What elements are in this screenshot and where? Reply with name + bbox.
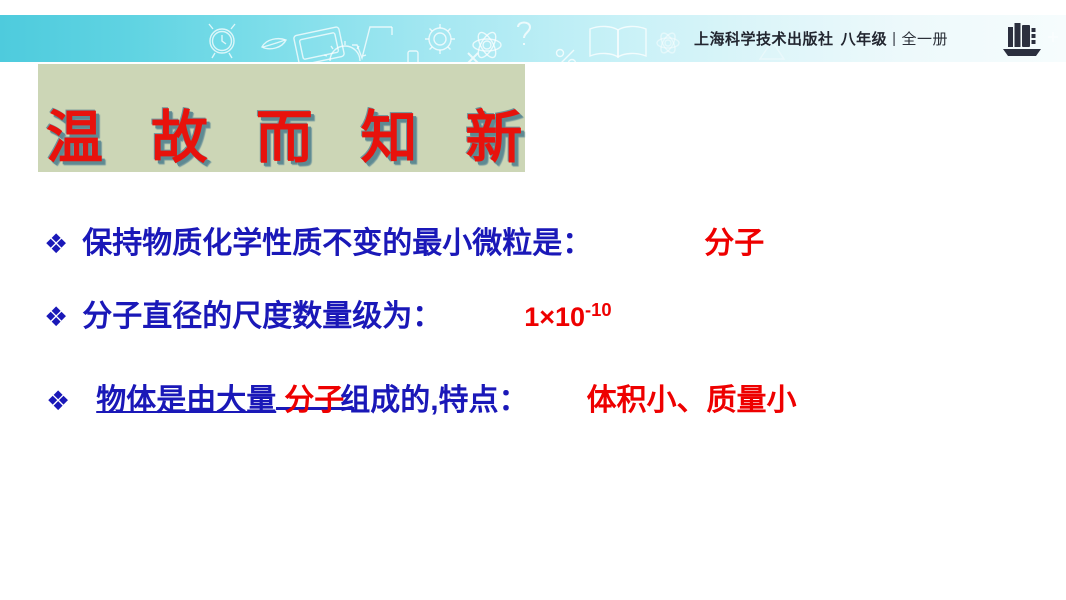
plus-icon — [1048, 32, 1058, 42]
grade-label: 八年级 — [841, 28, 888, 49]
title-banner: 温 故 而 知 新 — [38, 64, 525, 172]
header-title: 上海科学技术出版社 八年级 | 全一册 — [694, 15, 948, 62]
blank-answer-3: 分子 — [284, 375, 344, 419]
books-shelf-icon — [1000, 19, 1044, 59]
multiply-icon — [468, 53, 478, 62]
question-text-3b: 组成的,特点： — [340, 375, 528, 419]
question-text-1: 保持物质化学性质不变的最小微粒是： — [82, 218, 592, 262]
answer-text-2: 1×10-10 — [524, 302, 611, 333]
eraser-icon — [408, 51, 418, 62]
atom-icon — [657, 31, 679, 55]
percent-icon — [557, 50, 576, 63]
bullet-icon: ❖ — [44, 304, 68, 331]
review-line-2: ❖ 分子直径的尺度数量级为： 1×10-10 — [44, 291, 612, 335]
alarm-clock-icon — [209, 24, 235, 58]
question-text-2: 分子直径的尺度数量级为： — [82, 291, 442, 335]
title-separator: | — [892, 30, 896, 47]
bullet-icon: ❖ — [44, 231, 68, 258]
publisher-name: 上海科学技术出版社 — [694, 28, 834, 49]
title-banner-text: 温 故 而 知 新 — [46, 109, 536, 166]
bullet-icon: ❖ — [46, 388, 70, 415]
atom-icon — [473, 30, 501, 60]
leaf-icon — [262, 39, 286, 49]
review-line-3: ❖ 物体是由大量 分子 组成的,特点： 体积小、质量小 — [46, 375, 797, 419]
answer-text-3: 体积小、质量小 — [587, 375, 797, 419]
notebook-icon — [293, 27, 344, 62]
answer-exponent: -10 — [585, 299, 612, 320]
answer-mantissa: 1×10 — [524, 302, 585, 332]
question-text-3a: 物体是由大量 — [96, 375, 276, 419]
review-line-1: ❖ 保持物质化学性质不变的最小微粒是： 分子 — [44, 218, 764, 262]
square-root-icon — [352, 27, 392, 58]
gear-icon — [425, 24, 455, 54]
volume-label: 全一册 — [901, 28, 948, 49]
question-mark-icon — [518, 23, 530, 46]
open-book-icon — [590, 26, 646, 57]
answer-text-1: 分子 — [704, 218, 764, 262]
sun-compass-icon — [324, 41, 366, 61]
